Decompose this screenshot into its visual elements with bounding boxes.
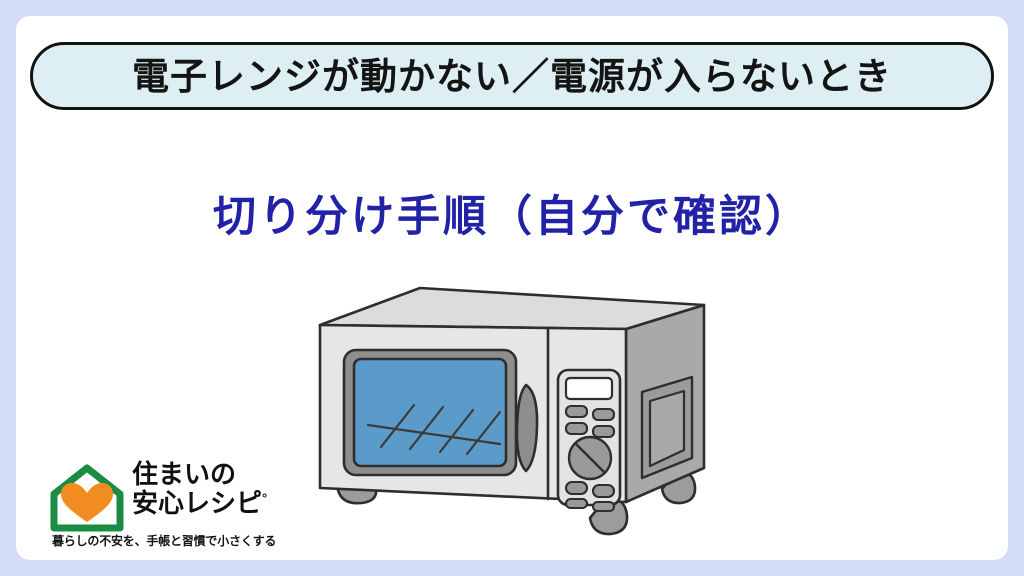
logo-degree-mark: °	[262, 490, 267, 505]
heart-shape	[61, 483, 113, 522]
logo-wordmark: 住まいの 安心レシピ°	[132, 460, 272, 518]
house-heart-icon	[48, 464, 126, 534]
brand-logo: 住まいの 安心レシピ° 暮らしの不安を、手帳と習慣で小さくする	[48, 456, 268, 556]
title-pill: 電子レンジが動かない／電源が入らないとき	[30, 42, 994, 110]
logo-line-2-text: 安心レシピ	[132, 488, 262, 518]
logo-line-1: 住まいの	[132, 460, 272, 489]
dial-knob	[569, 437, 611, 479]
logo-tagline: 暮らしの不安を、手帳と習慣で小さくする	[52, 532, 276, 549]
door-handle	[517, 385, 537, 471]
page-title: 電子レンジが動かない／電源が入らないとき	[132, 58, 892, 95]
top-face	[320, 288, 704, 329]
logo-line-2: 安心レシピ°	[132, 489, 272, 518]
slide-root: 電子レンジが動かない／電源が入らないとき 切り分け手順（自分で確認）	[0, 0, 1024, 576]
slide-card: 電子レンジが動かない／電源が入らないとき 切り分け手順（自分で確認）	[16, 16, 1008, 560]
door-window-glass	[354, 359, 506, 466]
display	[566, 378, 612, 399]
section-heading: 切り分け手順（自分で確認）	[16, 194, 1008, 241]
microwave-oven-illustration	[312, 282, 732, 544]
